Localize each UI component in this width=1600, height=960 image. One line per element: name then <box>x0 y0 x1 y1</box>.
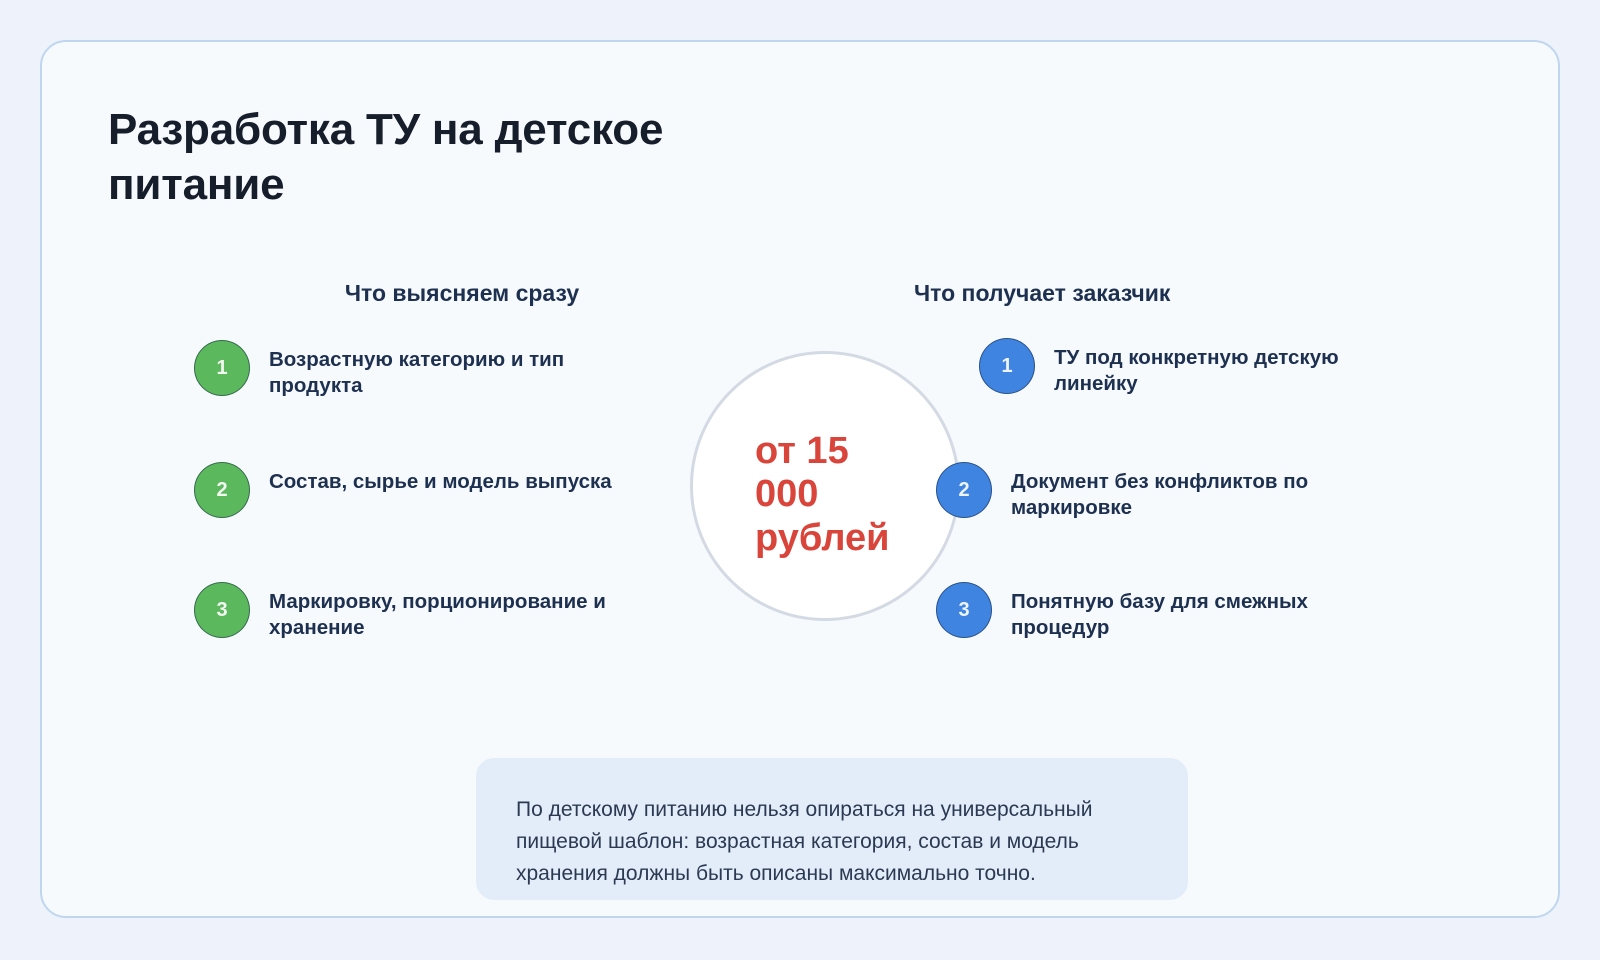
content-card: Разработка ТУ на детское питание Что выя… <box>40 40 1560 918</box>
list-item: 3 Маркировку, порционирование и хранение <box>194 582 614 641</box>
list-item-label: Документ без конфликтов по маркировке <box>1011 462 1396 521</box>
left-column-heading: Что выясняем сразу <box>272 280 652 307</box>
list-item-label: Возрастную категорию и тип продукта <box>269 340 614 399</box>
step-badge: 1 <box>194 340 250 396</box>
list-item-label: Понятную базу для смежных процедур <box>1011 582 1396 641</box>
list-item-label: Состав, сырье и модель выпуска <box>269 462 612 495</box>
list-item: 1 ТУ под конкретную детскую линейку <box>958 338 1398 397</box>
price-circle: от 15 000 рублей <box>690 351 960 621</box>
step-badge: 3 <box>936 582 992 638</box>
infographic-stage: Разработка ТУ на детское питание Что выя… <box>0 0 1600 960</box>
list-item-label: ТУ под конкретную детскую линейку <box>1054 338 1398 397</box>
note-text: По детскому питанию нельзя опираться на … <box>516 794 1116 890</box>
list-item: 3 Понятную базу для смежных процедур <box>936 582 1396 641</box>
list-item-label: Маркировку, порционирование и хранение <box>269 582 614 641</box>
step-badge: 2 <box>936 462 992 518</box>
step-badge: 2 <box>194 462 250 518</box>
list-item: 1 Возрастную категорию и тип продукта <box>194 340 614 399</box>
right-column-heading: Что получает заказчик <box>914 280 1294 307</box>
step-badge: 3 <box>194 582 250 638</box>
list-item: 2 Состав, сырье и модель выпуска <box>194 462 614 518</box>
list-item: 2 Документ без конфликтов по маркировке <box>936 462 1396 521</box>
step-badge: 1 <box>979 338 1035 394</box>
price-label: от 15 000 рублей <box>755 430 905 560</box>
page-title: Разработка ТУ на детское питание <box>108 102 748 212</box>
